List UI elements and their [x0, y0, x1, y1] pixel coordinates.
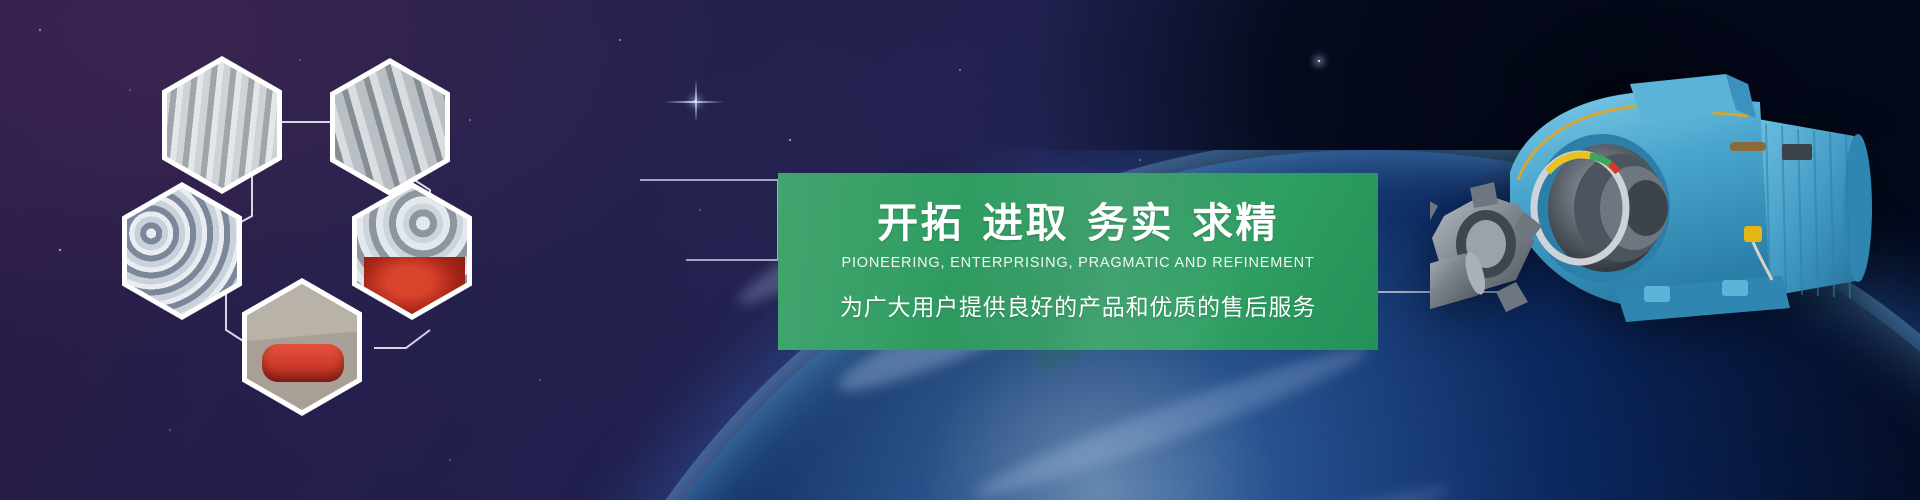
banner-root: 开拓进取务实求精 PIONEERING, ENTERPRISING, PRAGM…: [0, 0, 1920, 500]
motor-body: [1752, 118, 1872, 298]
slogan-word-2: 进取: [982, 200, 1069, 246]
slogan-subtitle-english: PIONEERING, ENTERPRISING, PRAGMATIC AND …: [841, 255, 1314, 271]
machined-steel-plates-image: [335, 64, 445, 190]
bearing-bore: [1534, 134, 1670, 282]
slogan-headline: 开拓进取务实求精: [868, 203, 1288, 244]
product-image-blue-gearbox-motor-assembly[interactable]: [1430, 40, 1920, 370]
slogan-word-1: 开拓: [877, 200, 964, 246]
gearbox-motor-illustration: [1430, 40, 1920, 370]
roller-wheels-and-links-image: [127, 188, 237, 314]
slogan-panel: 开拓进取务实求精 PIONEERING, ENTERPRISING, PRAGM…: [778, 173, 1378, 350]
slogan-word-4: 求精: [1192, 200, 1279, 246]
slogan-word-3: 务实: [1087, 200, 1174, 246]
bearing-housings-red-casing-image: [357, 188, 467, 314]
star-flare-vertical: [695, 79, 697, 123]
bright-star: [1318, 60, 1320, 62]
slogan-subtitle-chinese: 为广大用户提供良好的产品和优质的售后服务: [840, 288, 1316, 322]
red-hydraulic-cylinder-image: [247, 284, 357, 410]
hex-gallery: [130, 30, 560, 410]
cast-cylinder-sleeves-image: [167, 62, 277, 188]
star-flare-horizontal: [664, 101, 724, 103]
